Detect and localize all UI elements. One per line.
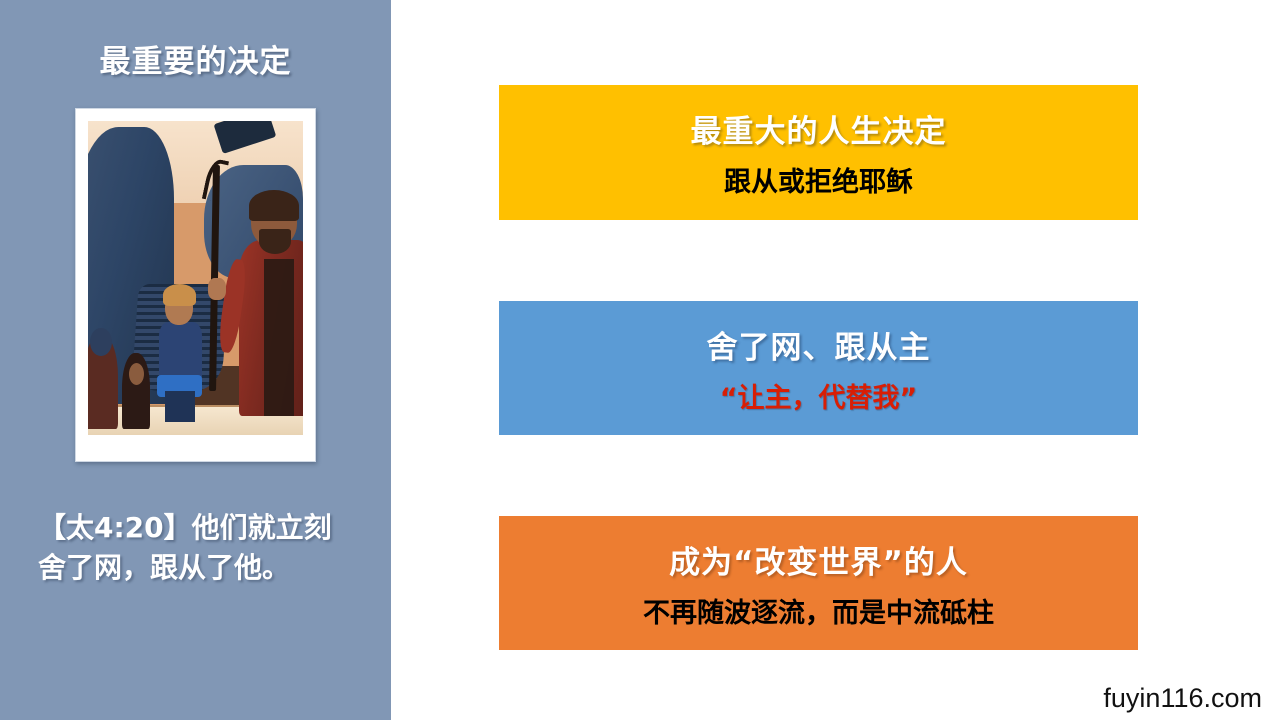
- crowd-figure-a-head: [90, 328, 112, 356]
- content-box-2-heading: 舍了网、跟从主: [707, 322, 931, 367]
- illustration-frame: [75, 108, 316, 462]
- sidebar-panel: 最重要的决定: [0, 0, 391, 720]
- content-box-2: 舍了网、跟从主 “让主，代替我”: [499, 301, 1138, 435]
- slide-canvas: 最重要的决定: [0, 0, 1280, 720]
- illustration-image: [88, 121, 303, 435]
- content-box-1: 最重大的人生决定 跟从或拒绝耶稣: [499, 85, 1138, 220]
- page-title: 最重要的决定: [0, 36, 391, 81]
- scripture-text: 【太4:20】他们就立刻舍了网，跟从了他。: [38, 508, 358, 588]
- boy-legs: [165, 391, 195, 422]
- boy-hair: [163, 284, 195, 306]
- robed-man-hair: [249, 190, 298, 221]
- content-box-3-heading: 成为“改变世界”的人: [669, 537, 968, 582]
- crowd-figure-b-face: [129, 363, 144, 385]
- content-box-1-subtext: 跟从或拒绝耶稣: [724, 160, 913, 199]
- robed-man-robe-fold: [264, 259, 294, 416]
- site-watermark: fuyin116.com: [1103, 683, 1262, 714]
- content-box-2-subtext: “让主，代替我”: [720, 376, 918, 415]
- content-box-3-subtext: 不再随波逐流，而是中流砥柱: [643, 591, 994, 630]
- content-box-1-heading: 最重大的人生决定: [691, 106, 947, 151]
- content-box-3: 成为“改变世界”的人 不再随波逐流，而是中流砥柱: [499, 516, 1138, 650]
- robed-man-hand: [208, 278, 225, 300]
